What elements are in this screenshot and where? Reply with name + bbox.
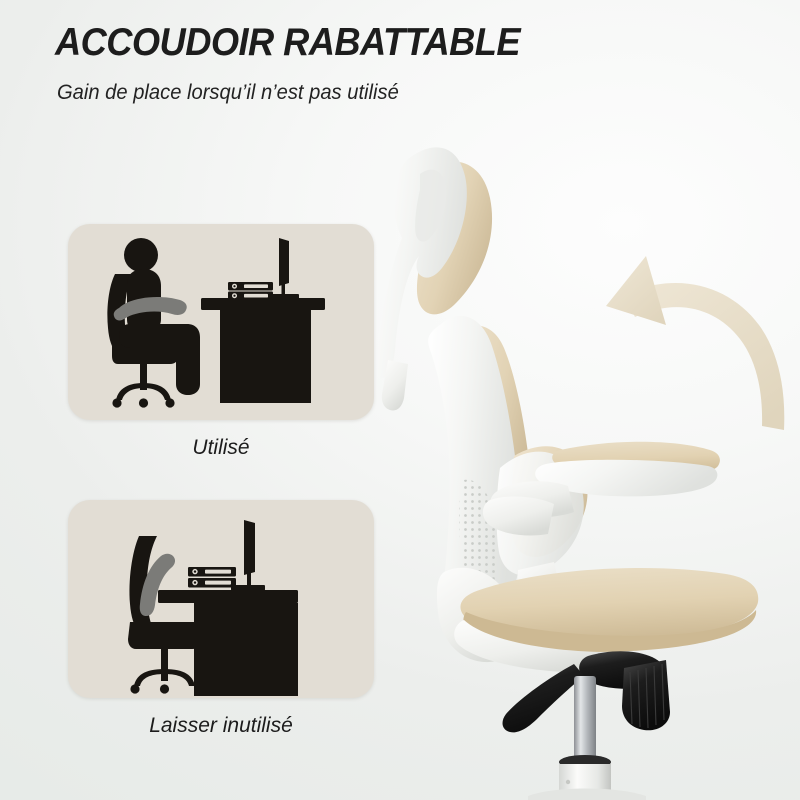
page-title: ACCOUDOIR RABATTABLE <box>55 22 706 63</box>
caption-unused: Laisser inutilisé <box>68 714 374 738</box>
illustration-panel-unused <box>68 500 374 698</box>
gas-lift-column <box>559 676 611 800</box>
page-subtitle: Gain de place lorsqu’il n’est pas utilis… <box>57 80 729 105</box>
caption-used: Utilisé <box>68 436 374 460</box>
height-lever <box>503 664 584 732</box>
scene-person-at-desk-icon <box>68 224 374 420</box>
monitor-icon <box>231 520 265 591</box>
chair-base <box>528 789 646 800</box>
illustration-panel-used <box>68 224 374 420</box>
scene-empty-chair-under-desk-icon <box>68 500 374 698</box>
product-feature-image: ACCOUDOIR RABATTABLE Gain de place lorsq… <box>0 0 800 800</box>
armrest-flip-arrow-icon <box>606 256 784 430</box>
tension-knob <box>622 660 670 730</box>
product-photo-chair <box>378 120 800 800</box>
